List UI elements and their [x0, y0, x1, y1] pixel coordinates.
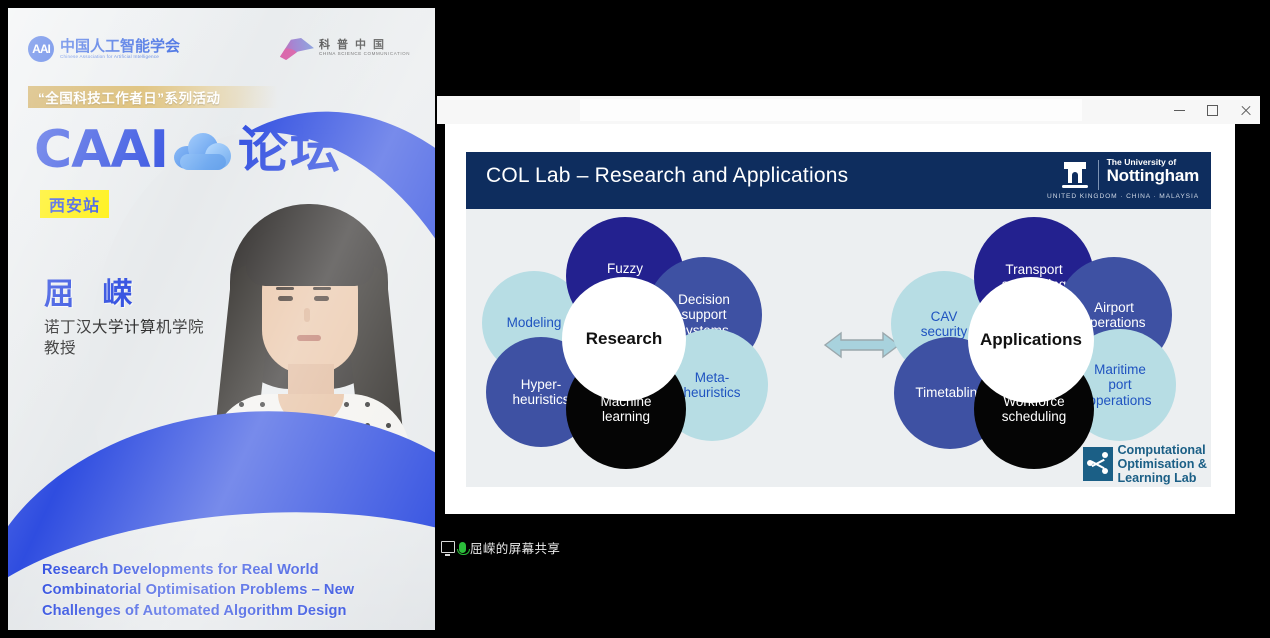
video-bottom-black-band — [437, 558, 1260, 628]
bubble-research-center: Research — [562, 277, 686, 401]
bubble-applications-center: Applications — [968, 277, 1094, 403]
double-arrow-icon — [823, 327, 901, 363]
kepu-name-cn: 科普中国 — [319, 40, 410, 51]
col-lab-line3: Learning Lab — [1117, 471, 1207, 485]
photo-fringe — [246, 226, 374, 286]
talk-title-line-1: Research Developments for Real World — [42, 560, 394, 580]
slide-header: COL Lab – Research and Applications The … — [466, 152, 1211, 209]
speaker-affiliation-line: 诺丁汉大学计算机学院 — [44, 318, 264, 339]
col-lab-logo: Computational Optimisation & Learning La… — [1083, 443, 1207, 485]
caai-org-logo: AAI 中国人工智能学会 Chinese Association for Art… — [28, 36, 180, 62]
screen-share-status-bar: 屈嵘的屏幕共享 — [437, 536, 1264, 558]
castle-tower-icon — [1060, 160, 1090, 190]
meeting-window: COL Lab – Research and Applications The … — [435, 8, 1262, 630]
screen-share-icon — [441, 541, 455, 553]
window-title-text — [580, 99, 1082, 121]
window-controls — [1173, 96, 1252, 124]
caai-forum-wordmark: CAAI 论坛 — [34, 124, 342, 176]
photo-brow-left — [276, 287, 294, 290]
city-badge: 西安站 — [40, 190, 109, 218]
caai-mark-icon: AAI — [28, 36, 54, 62]
speaker-affiliation: 诺丁汉大学计算机学院 教授 — [44, 318, 264, 360]
presentation-slide: COL Lab – Research and Applications The … — [445, 124, 1235, 514]
research-applications-diagram: Modeling Hyper- heuristics Fuzzy Logic D… — [466, 209, 1211, 487]
photo-mouth — [297, 335, 321, 341]
event-series-label: “全国科技工作者日”系列活动 — [28, 87, 221, 107]
kepu-name-en: CHINA SCIENCE COMMUNICATION — [319, 51, 410, 57]
screen-share-label: 屈嵘的屏幕共享 — [470, 538, 560, 557]
maximize-icon[interactable] — [1206, 104, 1219, 117]
speaker-role-line: 教授 — [44, 339, 264, 360]
close-icon[interactable] — [1239, 104, 1252, 117]
logo-divider — [1098, 160, 1099, 190]
col-lab-line1: Computational — [1117, 443, 1207, 457]
col-lab-line2: Optimisation & — [1117, 457, 1207, 471]
caai-org-name-en: Chinese Association for Artificial Intel… — [60, 54, 180, 59]
video-top-black-band — [435, 8, 1262, 96]
photo-nose — [304, 308, 310, 322]
university-line2: Nottingham — [1107, 167, 1199, 184]
kepu-partner-logo: 科普中国 CHINA SCIENCE COMMUNICATION — [280, 38, 410, 60]
cloud-icon — [174, 130, 232, 170]
university-regions: UNITED KINGDOM · CHINA · MALAYSIA — [1047, 193, 1199, 200]
kepu-leaf-icon — [280, 38, 314, 60]
forum-cn-text: 论坛 — [238, 125, 342, 175]
poster-logo-row: AAI 中国人工智能学会 Chinese Association for Art… — [28, 36, 421, 72]
event-poster-panel: AAI 中国人工智能学会 Chinese Association for Art… — [8, 8, 435, 630]
talk-title-line-3: Challenges of Automated Algorithm Design — [42, 601, 394, 621]
shared-screen-stage: COL Lab – Research and Applications The … — [437, 124, 1260, 536]
app-screen: AAI 中国人工智能学会 Chinese Association for Art… — [0, 0, 1270, 638]
minimize-icon[interactable] — [1173, 104, 1186, 117]
window-title-bar[interactable] — [437, 96, 1260, 125]
photo-eye-left — [278, 296, 293, 301]
caai-org-name-cn: 中国人工智能学会 — [60, 39, 180, 55]
talk-title: Research Developments for Real World Com… — [42, 560, 394, 621]
slide-title: COL Lab – Research and Applications — [486, 164, 848, 188]
col-lab-network-icon — [1083, 447, 1113, 481]
event-series-banner: “全国科技工作者日”系列活动 — [28, 86, 278, 108]
talk-title-line-2: Combinatorial Optimisation Problems – Ne… — [42, 580, 394, 600]
forum-latin-text: CAAI — [34, 124, 168, 176]
speaker-name: 屈 嵘 — [44, 280, 142, 310]
city-badge-label: 西安站 — [49, 198, 100, 215]
photo-brow-right — [313, 287, 331, 290]
photo-eye-right — [314, 296, 329, 301]
university-logo: The University of Nottingham — [1060, 158, 1199, 190]
microphone-icon — [459, 542, 466, 553]
